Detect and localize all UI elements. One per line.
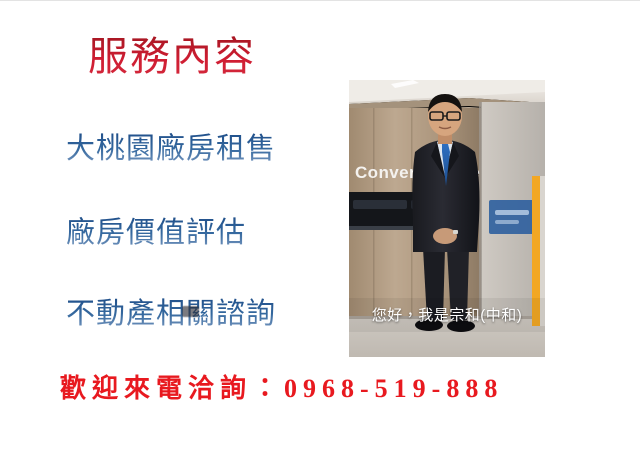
page-title: 服務內容 bbox=[88, 34, 256, 80]
profile-photo: Convention Ce bbox=[349, 80, 545, 357]
slide-canvas: 服務內容 大桃園廠房租售 廠房價值評估 不動產相關諮詢 bbox=[0, 0, 640, 451]
text-smudge-artifact bbox=[182, 306, 199, 317]
service-item-2: 廠房價值評估 bbox=[66, 216, 246, 250]
service-item-1: 大桃園廠房租售 bbox=[66, 132, 276, 166]
contact-phone-line: 歡迎來電洽詢：0968-519-888 bbox=[60, 373, 580, 405]
service-item-3: 不動產相關諮詢 bbox=[66, 297, 276, 331]
